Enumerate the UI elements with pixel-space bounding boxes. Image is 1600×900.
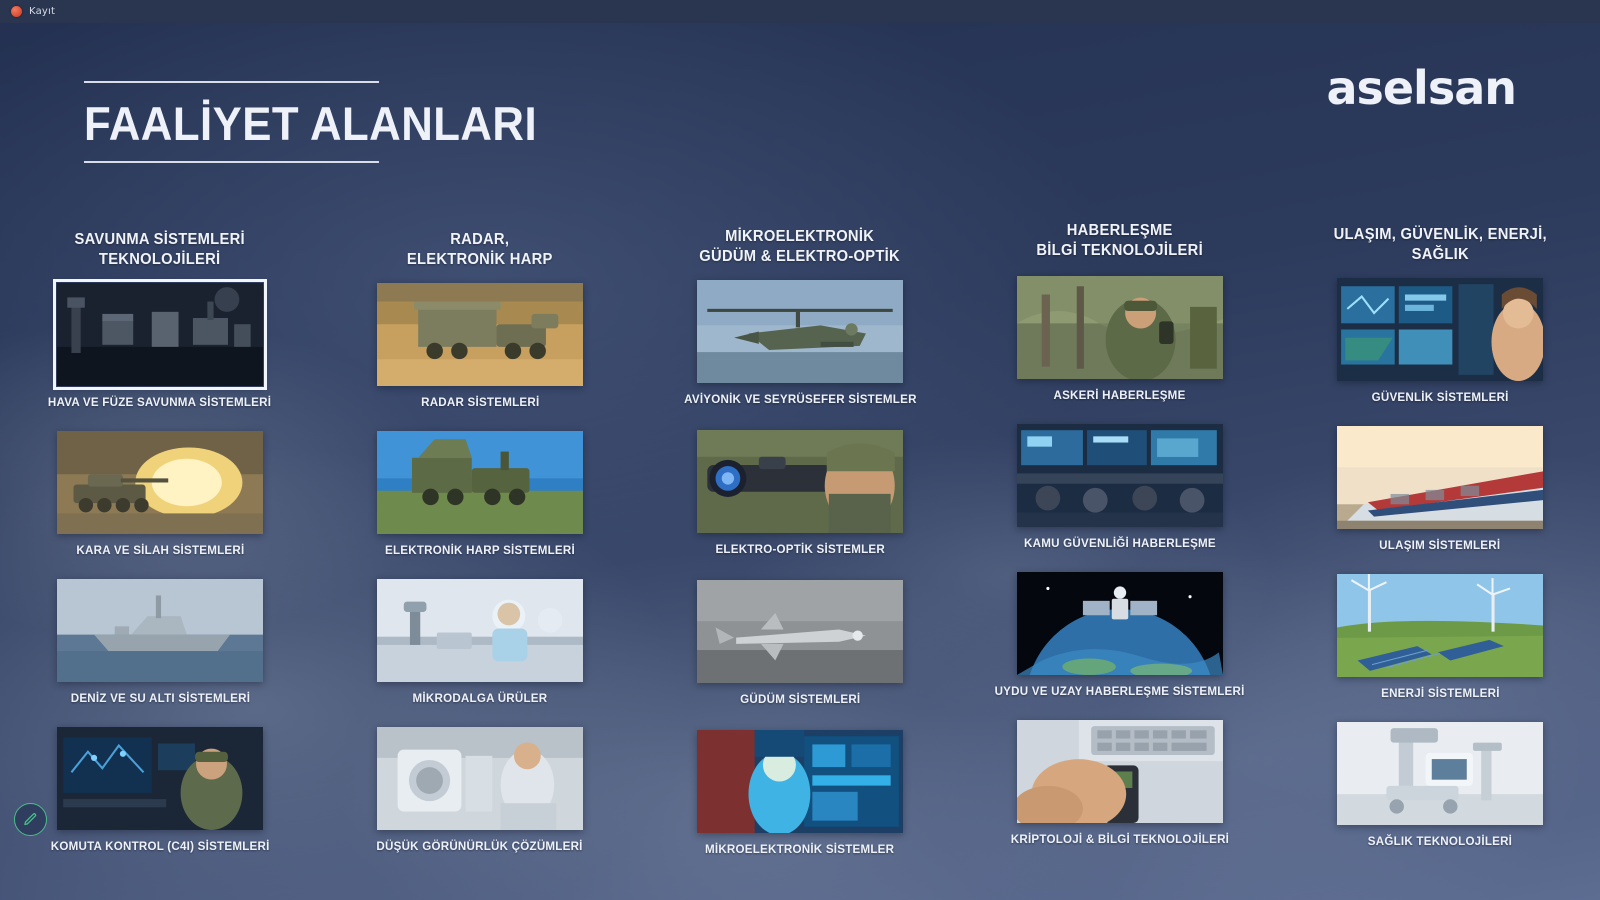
- capability-item[interactable]: HAVA VE FÜZE SAVUNMA SİSTEMLERİ: [42, 283, 277, 409]
- capability-item[interactable]: ULAŞIM SİSTEMLERİ: [1337, 426, 1543, 552]
- column-items: ASKERİ HABERLEŞMEKAMU GÜVENLİĞİ HABERLEŞ…: [960, 276, 1280, 846]
- capability-caption: ELEKTRO-OPTİK SİSTEMLER: [715, 542, 885, 556]
- low-observability-lab-photo[interactable]: [377, 727, 583, 830]
- capability-item[interactable]: MİKRODALGA ÜRÜLER: [377, 579, 583, 705]
- capability-caption: KARA VE SİLAH SİSTEMLERİ: [76, 543, 244, 557]
- naval-corvette-ship-photo[interactable]: [57, 579, 263, 682]
- capability-item[interactable]: MİKROELEKTRONİK SİSTEMLER: [697, 730, 903, 856]
- record-label: Kayıt: [29, 6, 55, 17]
- title-block: FAALİYET ALANLARI: [84, 81, 384, 163]
- category-column-3: MİKROELEKTRONİK GÜDÜM & ELEKTRO-OPTİKAVİ…: [640, 203, 960, 900]
- electronic-warfare-vehicle-photo[interactable]: [377, 431, 583, 534]
- column-items: GÜVENLİK SİSTEMLERİULAŞIM SİSTEMLERİENER…: [1280, 278, 1600, 848]
- capability-caption: KAMU GÜVENLİĞİ HABERLEŞME: [1024, 536, 1216, 550]
- page-title: FAALİYET ALANLARI: [84, 100, 363, 147]
- capability-item[interactable]: DENİZ VE SU ALTI SİSTEMLERİ: [57, 579, 263, 705]
- guided-missile-thermal-photo[interactable]: [697, 580, 903, 683]
- medical-imaging-device-photo[interactable]: [1337, 722, 1543, 825]
- satellite-over-earth-photo[interactable]: [1017, 572, 1223, 675]
- capability-item[interactable]: KOMUTA KONTROL (C4I) SİSTEMLERİ: [45, 727, 275, 853]
- capability-caption: RADAR SİSTEMLERİ: [421, 395, 539, 409]
- capability-caption: AVİYONİK VE SEYRÜSEFER SİSTEMLER: [684, 392, 917, 406]
- capability-caption: GÜVENLİK SİSTEMLERİ: [1371, 390, 1508, 404]
- category-columns: SAVUNMA SİSTEMLERİ TEKNOLOJİLERİHAVA VE …: [0, 203, 1600, 900]
- column-heading: ULAŞIM, GÜVENLİK, ENERJİ, SAĞLIK: [1333, 225, 1546, 264]
- category-column-4: HABERLEŞME BİLGİ TEKNOLOJİLERİASKERİ HAB…: [960, 203, 1280, 900]
- capability-item[interactable]: ENERJİ SİSTEMLERİ: [1337, 574, 1543, 700]
- capability-item[interactable]: AVİYONİK VE SEYRÜSEFER SİSTEMLER: [678, 280, 923, 406]
- capability-item[interactable]: KRİPTOLOJİ & BİLGİ TEKNOLOJİLERİ: [1005, 720, 1235, 846]
- capability-item[interactable]: ELEKTRONİK HARP SİSTEMLERİ: [377, 431, 583, 557]
- column-heading: MİKROELEKTRONİK GÜDÜM & ELEKTRO-OPTİK: [700, 227, 901, 266]
- mobile-radar-vehicle-photo[interactable]: [377, 283, 583, 386]
- command-control-room-photo[interactable]: [57, 727, 263, 830]
- security-monitoring-wall-photo[interactable]: [1337, 278, 1543, 381]
- title-rule-top: [84, 81, 379, 83]
- capability-item[interactable]: DÜŞÜK GÖRÜNÜRLÜK ÇÖZÜMLERİ: [371, 727, 588, 853]
- column-heading: HABERLEŞME BİLGİ TEKNOLOJİLERİ: [1037, 221, 1204, 260]
- category-column-5: ULAŞIM, GÜVENLİK, ENERJİ, SAĞLIKGÜVENLİK…: [1280, 203, 1600, 900]
- capability-item[interactable]: ASKERİ HABERLEŞME: [1017, 276, 1223, 402]
- column-heading: RADAR, ELEKTRONİK HARP: [407, 230, 553, 269]
- record-dot-icon[interactable]: [11, 6, 22, 17]
- capability-item[interactable]: UYDU VE UZAY HABERLEŞME SİSTEMLERİ: [988, 572, 1251, 698]
- aselsan-logo: aselsan: [1326, 61, 1516, 115]
- capability-item[interactable]: ELEKTRO-OPTİK SİSTEMLER: [697, 430, 903, 556]
- pen-tool-button[interactable]: [14, 803, 47, 836]
- category-column-2: RADAR, ELEKTRONİK HARPRADAR SİSTEMLERİEL…: [320, 203, 640, 900]
- capability-caption: SAĞLIK TEKNOLOJİLERİ: [1368, 834, 1512, 848]
- column-heading: SAVUNMA SİSTEMLERİ TEKNOLOJİLERİ: [75, 230, 245, 269]
- title-rule-bottom: [84, 161, 379, 163]
- capability-caption: ASKERİ HABERLEŞME: [1054, 388, 1186, 402]
- commuter-train-photo[interactable]: [1337, 426, 1543, 529]
- tank-firing-photo[interactable]: [57, 431, 263, 534]
- attack-helicopter-photo[interactable]: [697, 280, 903, 383]
- soldier-with-thermal-sight-photo[interactable]: [697, 430, 903, 533]
- presentation-slide: aselsan FAALİYET ALANLARI SAVUNMA SİSTEM…: [0, 23, 1600, 900]
- recording-topbar: Kayıt: [0, 0, 1600, 23]
- capability-caption: MİKROELEKTRONİK SİSTEMLER: [705, 842, 894, 856]
- capability-item[interactable]: SAĞLIK TEKNOLOJİLERİ: [1337, 722, 1543, 848]
- column-items: RADAR SİSTEMLERİELEKTRONİK HARP SİSTEMLE…: [320, 283, 640, 853]
- air-missile-defense-radar-photo[interactable]: [57, 283, 263, 386]
- capability-caption: MİKRODALGA ÜRÜLER: [413, 691, 548, 705]
- capability-caption: DENİZ VE SU ALTI SİSTEMLERİ: [70, 691, 249, 705]
- capability-item[interactable]: KARA VE SİLAH SİSTEMLERİ: [57, 431, 263, 557]
- soldier-field-radio-photo[interactable]: [1017, 276, 1223, 379]
- cleanroom-microwave-lab-photo[interactable]: [377, 579, 583, 682]
- microelectronics-cleanroom-photo[interactable]: [697, 730, 903, 833]
- capability-caption: ENERJİ SİSTEMLERİ: [1381, 686, 1500, 700]
- public-safety-control-center-photo[interactable]: [1017, 424, 1223, 527]
- capability-item[interactable]: GÜVENLİK SİSTEMLERİ: [1337, 278, 1543, 404]
- column-items: HAVA VE FÜZE SAVUNMA SİSTEMLERİKARA VE S…: [0, 283, 320, 853]
- capability-item[interactable]: RADAR SİSTEMLERİ: [377, 283, 583, 409]
- category-column-1: SAVUNMA SİSTEMLERİ TEKNOLOJİLERİHAVA VE …: [0, 203, 320, 900]
- capability-caption: KOMUTA KONTROL (C4I) SİSTEMLERİ: [51, 839, 270, 853]
- column-items: AVİYONİK VE SEYRÜSEFER SİSTEMLERELEKTRO-…: [640, 280, 960, 856]
- capability-item[interactable]: KAMU GÜVENLİĞİ HABERLEŞME: [1017, 424, 1223, 550]
- capability-caption: HAVA VE FÜZE SAVUNMA SİSTEMLERİ: [48, 395, 271, 409]
- capability-caption: KRİPTOLOJİ & BİLGİ TEKNOLOJİLERİ: [1011, 832, 1229, 846]
- capability-caption: DÜŞÜK GÖRÜNÜRLÜK ÇÖZÜMLERİ: [377, 839, 583, 853]
- capability-caption: ULAŞIM SİSTEMLERİ: [1379, 538, 1500, 552]
- solar-panels-wind-turbines-photo[interactable]: [1337, 574, 1543, 677]
- capability-caption: ELEKTRONİK HARP SİSTEMLERİ: [385, 543, 575, 557]
- capability-caption: UYDU VE UZAY HABERLEŞME SİSTEMLERİ: [995, 684, 1245, 698]
- capability-caption: GÜDÜM SİSTEMLERİ: [740, 692, 860, 706]
- pen-icon: [23, 812, 38, 827]
- encrypted-handset-photo[interactable]: [1017, 720, 1223, 823]
- capability-item[interactable]: GÜDÜM SİSTEMLERİ: [697, 580, 903, 706]
